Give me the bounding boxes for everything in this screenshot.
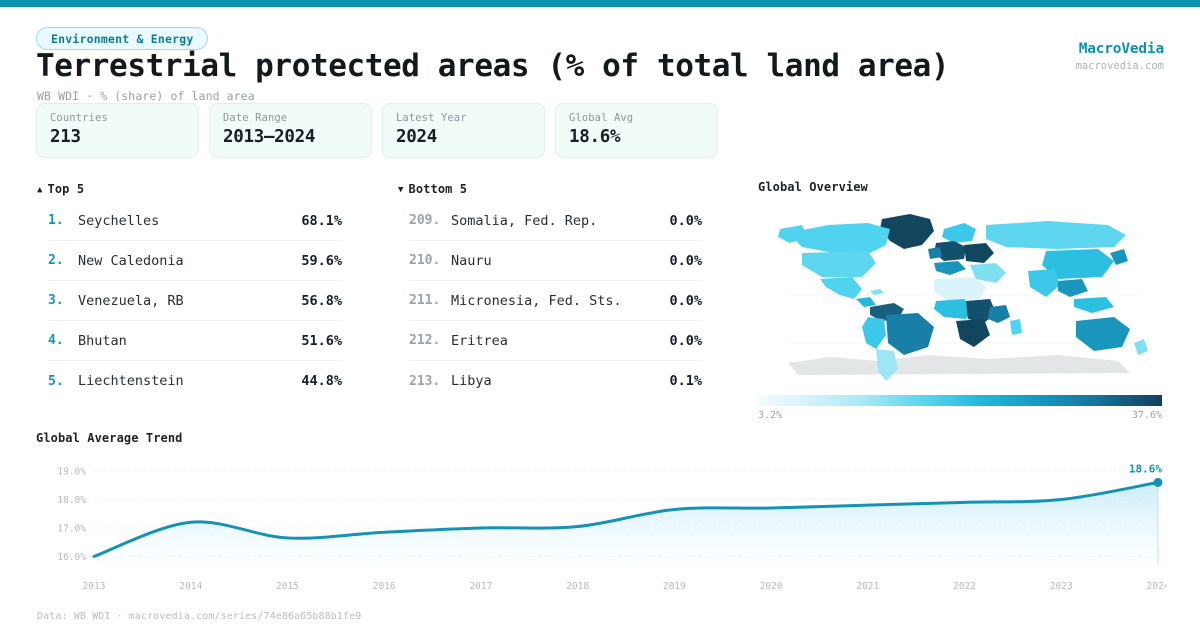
triangle-up-icon: ▲	[37, 185, 43, 195]
stat-value: 213	[50, 127, 185, 147]
brand-url: macrovedia.com	[1075, 60, 1164, 72]
stat-card-date-range: Date Range 2013—2024	[209, 103, 372, 158]
trend-chart[interactable]: 16.0%17.0%18.0%19.0% 18.6% 2013201420152…	[36, 453, 1166, 601]
svg-text:2018: 2018	[566, 581, 589, 592]
triangle-down-icon: ▼	[398, 185, 404, 195]
rank-number: 209.	[409, 213, 451, 228]
colorbar-max-label: 37.6%	[1132, 410, 1162, 421]
list-item[interactable]: 5. Liechtenstein 44.8%	[48, 361, 342, 401]
list-item[interactable]: 211. Micronesia, Fed. Sts. 0.0%	[409, 281, 702, 321]
stat-card-latest-year: Latest Year 2024	[382, 103, 545, 158]
list-item[interactable]: 2. New Caledonia 59.6%	[48, 241, 342, 281]
stat-label: Latest Year	[396, 112, 531, 124]
category-badge: Environment & Energy	[36, 27, 208, 50]
top5-heading: ▲Top 5	[37, 182, 84, 196]
country-value: 0.0%	[669, 213, 702, 229]
svg-text:2016: 2016	[373, 581, 396, 592]
country-name: Nauru	[451, 253, 669, 269]
svg-text:2015: 2015	[276, 581, 299, 592]
trend-endpoint-dot	[1154, 478, 1163, 487]
world-map-svg	[758, 203, 1162, 389]
top5-heading-label: Top 5	[48, 182, 85, 196]
country-name: Venezuela, RB	[78, 293, 301, 309]
trend-endpoint-label: 18.6%	[1129, 462, 1162, 475]
global-average-trend-panel: Global Average Trend 16.0%17.0%18.0%19.0…	[36, 431, 1166, 601]
svg-text:2021: 2021	[856, 581, 879, 592]
rank-number: 213.	[409, 374, 451, 389]
rank-number: 4.	[48, 333, 78, 348]
bottom5-heading: ▼Bottom 5	[398, 182, 467, 196]
svg-text:18.0%: 18.0%	[57, 495, 86, 506]
list-item[interactable]: 212. Eritrea 0.0%	[409, 321, 702, 361]
country-value: 0.0%	[669, 293, 702, 309]
svg-text:2014: 2014	[179, 581, 202, 592]
stat-card-countries: Countries 213	[36, 103, 199, 158]
rank-number: 210.	[409, 253, 451, 268]
country-value: 59.6%	[301, 253, 342, 269]
country-name: New Caledonia	[78, 253, 301, 269]
svg-text:2017: 2017	[469, 581, 492, 592]
country-name: Bhutan	[78, 333, 301, 349]
svg-text:2024: 2024	[1147, 581, 1166, 592]
list-item[interactable]: 213. Libya 0.1%	[409, 361, 702, 401]
chart-x-tick-labels: 2013201420152016201720182019202020212022…	[83, 581, 1166, 592]
region-uk-ireland	[928, 247, 942, 259]
region-madagascar	[1010, 319, 1022, 335]
country-value: 56.8%	[301, 293, 342, 309]
page-title: Terrestrial protected areas (% of total …	[36, 48, 949, 84]
trend-chart-svg: 16.0%17.0%18.0%19.0% 18.6% 2013201420152…	[36, 453, 1166, 601]
country-value: 0.1%	[669, 373, 702, 389]
trend-area-fill	[94, 482, 1158, 565]
rank-number: 211.	[409, 293, 451, 308]
map-colorbar	[758, 395, 1162, 406]
stat-value: 2024	[396, 127, 531, 147]
svg-text:2022: 2022	[953, 581, 976, 592]
country-name: Libya	[451, 373, 669, 389]
page-subtitle: WB WDI · % (share) of land area	[37, 89, 255, 103]
country-value: 0.0%	[669, 253, 702, 269]
map-title: Global Overview	[758, 180, 1162, 194]
colorbar-min-label: 3.2%	[758, 410, 782, 421]
rank-number: 3.	[48, 293, 78, 308]
brand-name: MacroVedia	[1075, 41, 1164, 57]
country-name: Eritrea	[451, 333, 669, 349]
chart-y-tick-labels: 16.0%17.0%18.0%19.0%	[57, 467, 86, 563]
stat-card-row: Countries 213 Date Range 2013—2024 Lates…	[36, 103, 718, 158]
country-value: 68.1%	[301, 213, 342, 229]
rank-number: 2.	[48, 253, 78, 268]
stat-label: Countries	[50, 112, 185, 124]
list-item[interactable]: 1. Seychelles 68.1%	[48, 201, 342, 241]
stat-label: Date Range	[223, 112, 358, 124]
bottom5-list: 209. Somalia, Fed. Rep. 0.0% 210. Nauru …	[409, 201, 702, 401]
country-value: 51.6%	[301, 333, 342, 349]
stat-value: 18.6%	[569, 127, 704, 147]
svg-text:2013: 2013	[83, 581, 106, 592]
world-choropleth-map[interactable]	[758, 203, 1162, 389]
country-value: 0.0%	[669, 333, 702, 349]
bottom5-heading-label: Bottom 5	[409, 182, 468, 196]
country-name: Somalia, Fed. Rep.	[451, 213, 669, 229]
map-colorbar-labels: 3.2% 37.6%	[758, 410, 1162, 421]
list-item[interactable]: 3. Venezuela, RB 56.8%	[48, 281, 342, 321]
global-overview-panel: Global Overview	[758, 180, 1162, 421]
footer-source: Data: WB WDI · macrovedia.com/series/74e…	[37, 611, 361, 622]
top-accent-bar	[0, 0, 1200, 7]
rank-number: 212.	[409, 333, 451, 348]
list-item[interactable]: 210. Nauru 0.0%	[409, 241, 702, 281]
stat-label: Global Avg	[569, 112, 704, 124]
svg-text:19.0%: 19.0%	[57, 467, 86, 478]
list-item[interactable]: 4. Bhutan 51.6%	[48, 321, 342, 361]
svg-text:2020: 2020	[760, 581, 783, 592]
stat-value: 2013—2024	[223, 127, 358, 147]
brand-block: MacroVedia macrovedia.com	[1075, 41, 1164, 72]
svg-text:2023: 2023	[1050, 581, 1073, 592]
country-name: Seychelles	[78, 213, 301, 229]
svg-text:17.0%: 17.0%	[57, 523, 86, 534]
trend-title: Global Average Trend	[36, 431, 1166, 445]
country-name: Liechtenstein	[78, 373, 301, 389]
top5-list: 1. Seychelles 68.1% 2. New Caledonia 59.…	[48, 201, 342, 401]
rank-number: 5.	[48, 374, 78, 389]
country-name: Micronesia, Fed. Sts.	[451, 293, 669, 309]
country-value: 44.8%	[301, 373, 342, 389]
rank-number: 1.	[48, 213, 78, 228]
stat-card-global-avg: Global Avg 18.6%	[555, 103, 718, 158]
region-russia	[986, 221, 1126, 249]
list-item[interactable]: 209. Somalia, Fed. Rep. 0.0%	[409, 201, 702, 241]
svg-text:16.0%: 16.0%	[57, 552, 86, 563]
svg-text:2019: 2019	[663, 581, 686, 592]
region-antarctica	[788, 355, 1130, 375]
